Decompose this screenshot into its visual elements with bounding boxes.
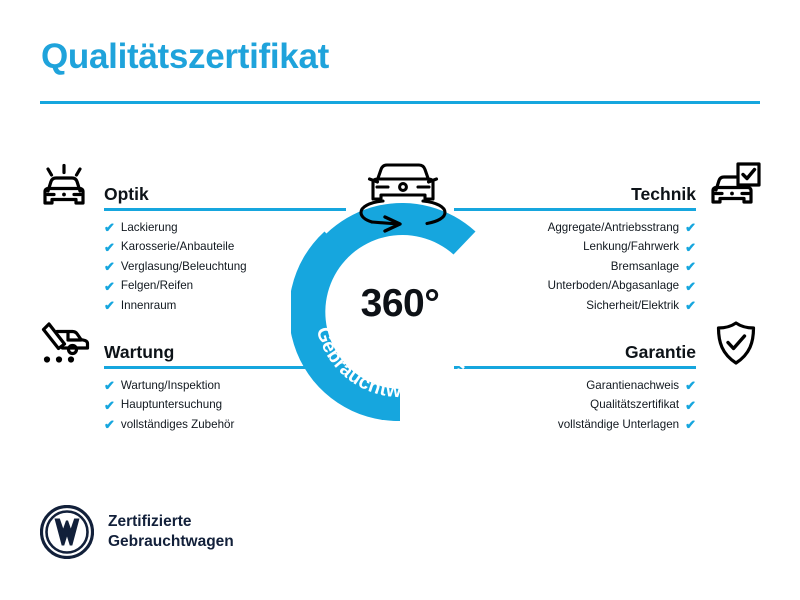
footer-text: Zertifizierte Gebrauchtwagen	[108, 512, 234, 552]
list-item-label: vollständiges Zubehör	[121, 419, 234, 431]
check-icon: ✔	[104, 399, 115, 412]
list-item-label: Bremsanlage	[611, 261, 679, 273]
list-item-label: Qualitätszertifikat	[590, 399, 679, 411]
list-item-label: Verglasung/Beleuchtung	[121, 261, 247, 273]
list-item-label: Innenraum	[121, 300, 176, 312]
certification-badge: Gebrauchtwagen-Check 360°	[291, 203, 509, 421]
check-icon: ✔	[104, 280, 115, 293]
list-item-label: Aggregate/Antriebsstrang	[548, 222, 679, 234]
car-rotation-icon	[355, 157, 451, 233]
certificate-page: Qualitätszertifikat Optik ✔	[0, 0, 800, 600]
list-item-label: Wartung/Inspektion	[121, 380, 220, 392]
footer-line-1: Zertifizierte	[108, 512, 234, 532]
check-icon: ✔	[685, 418, 696, 431]
check-icon: ✔	[104, 260, 115, 273]
list-item-label: Hauptuntersuchung	[121, 399, 222, 411]
check-icon: ✔	[685, 241, 696, 254]
footer: Zertifizierte Gebrauchtwagen	[40, 505, 234, 559]
list-item-label: Unterboden/Abgasanlage	[548, 280, 680, 292]
shield-check-icon	[710, 318, 762, 368]
volkswagen-logo	[40, 505, 94, 559]
check-icon: ✔	[104, 221, 115, 234]
check-icon: ✔	[685, 379, 696, 392]
section-optik-title: Optik	[104, 184, 149, 205]
car-checkbox-icon	[710, 160, 762, 210]
section-technik-title: Technik	[631, 184, 696, 205]
check-icon: ✔	[685, 280, 696, 293]
check-icon: ✔	[104, 299, 115, 312]
list-item-label: Sicherheit/Elektrik	[586, 300, 679, 312]
sparkling-car-front-icon	[38, 160, 90, 210]
check-icon: ✔	[685, 399, 696, 412]
footer-line-2: Gebrauchtwagen	[108, 532, 234, 552]
list-item-label: vollständige Unterlagen	[558, 419, 679, 431]
list-item-label: Lenkung/Fahrwerk	[583, 241, 679, 253]
check-icon: ✔	[104, 379, 115, 392]
check-icon: ✔	[685, 221, 696, 234]
list-item-label: Felgen/Reifen	[121, 280, 193, 292]
header-divider	[40, 101, 760, 104]
list-item-label: Garantienachweis	[586, 380, 679, 392]
service-pen-car-icon	[38, 318, 90, 368]
section-garantie-title: Garantie	[625, 342, 696, 363]
check-icon: ✔	[685, 299, 696, 312]
check-icon: ✔	[104, 418, 115, 431]
list-item-label: Karosserie/Anbauteile	[121, 241, 234, 253]
check-icon: ✔	[685, 260, 696, 273]
page-title: Qualitätszertifikat	[41, 38, 329, 77]
list-item-label: Lackierung	[121, 222, 178, 234]
section-wartung-title: Wartung	[104, 342, 174, 363]
check-icon: ✔	[104, 241, 115, 254]
